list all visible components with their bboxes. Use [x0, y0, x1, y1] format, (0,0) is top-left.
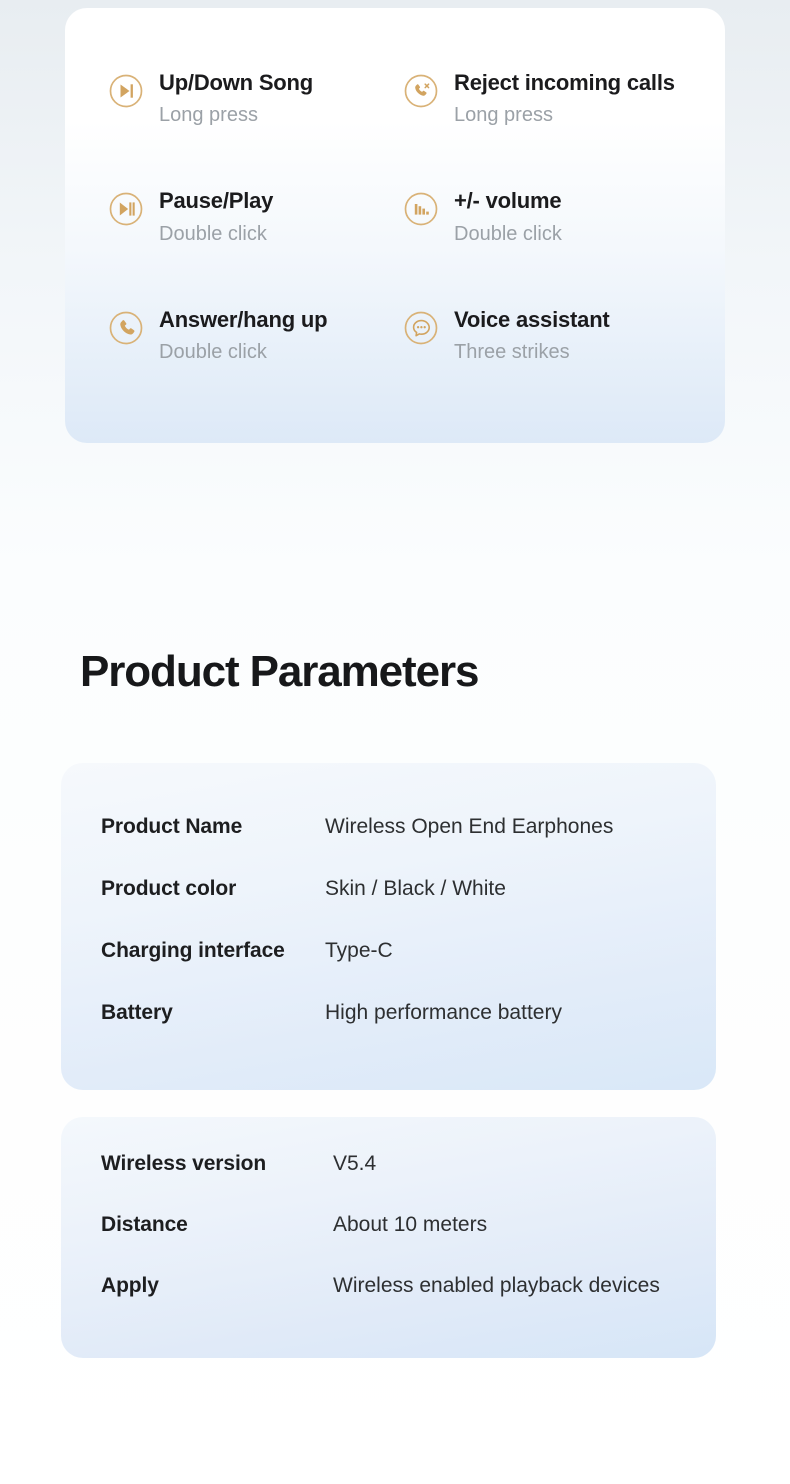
spec-value: V5.4 [333, 1152, 376, 1176]
feature-gesture: Double click [159, 341, 327, 364]
product-parameters-card-secondary: Wireless version V5.4 Distance About 10 … [61, 1117, 716, 1358]
phone-icon [108, 310, 144, 346]
spec-value: Wireless Open End Earphones [325, 815, 613, 839]
table-row: Battery High performance battery [101, 1001, 716, 1025]
feature-item-pause-play: Pause/Play Double click [65, 188, 361, 245]
feature-item-answer-hang-up: Answer/hang up Double click [65, 307, 361, 364]
feature-item-volume: +/- volume Double click [361, 188, 725, 245]
table-row: Distance About 10 meters [101, 1213, 716, 1237]
spec-label: Distance [101, 1213, 333, 1237]
product-parameters-card-primary: Product Name Wireless Open End Earphones… [61, 763, 716, 1090]
spec-value: About 10 meters [333, 1213, 487, 1237]
feature-item-voice-assistant: Voice assistant Three strikes [361, 307, 725, 364]
feature-text: Answer/hang up Double click [159, 307, 327, 364]
feature-title: Voice assistant [454, 307, 610, 332]
spec-label: Battery [101, 1001, 325, 1025]
spec-label: Charging interface [101, 939, 325, 963]
feature-item-up-down-song: Up/Down Song Long press [65, 70, 361, 127]
spec-value: High performance battery [325, 1001, 562, 1025]
feature-gesture: Double click [159, 223, 273, 246]
table-row: Product color Skin / Black / White [101, 877, 716, 901]
feature-title: Up/Down Song [159, 70, 313, 95]
spec-value: Wireless enabled playback devices [333, 1274, 660, 1298]
feature-gesture: Long press [159, 104, 313, 127]
control-gestures-card: Up/Down Song Long press Reject incoming … [65, 8, 725, 443]
reject-call-icon [403, 73, 439, 109]
feature-title: Pause/Play [159, 188, 273, 213]
table-row: Product Name Wireless Open End Earphones [101, 815, 716, 839]
feature-gesture: Long press [454, 104, 675, 127]
table-row: Apply Wireless enabled playback devices [101, 1274, 716, 1298]
spec-label: Product Name [101, 815, 325, 839]
page-title: Product Parameters [80, 650, 478, 694]
feature-text: Reject incoming calls Long press [454, 70, 675, 127]
spec-label: Apply [101, 1274, 333, 1298]
feature-text: +/- volume Double click [454, 188, 562, 245]
control-gestures-grid: Up/Down Song Long press Reject incoming … [65, 70, 725, 364]
feature-title: Answer/hang up [159, 307, 327, 332]
feature-text: Voice assistant Three strikes [454, 307, 610, 364]
next-track-icon [108, 73, 144, 109]
feature-text: Pause/Play Double click [159, 188, 273, 245]
spec-value: Type-C [325, 939, 393, 963]
voice-assistant-icon [403, 310, 439, 346]
feature-title: +/- volume [454, 188, 562, 213]
volume-bars-icon [403, 191, 439, 227]
table-row: Charging interface Type-C [101, 939, 716, 963]
spec-value: Skin / Black / White [325, 877, 506, 901]
feature-item-reject-incoming-calls: Reject incoming calls Long press [361, 70, 725, 127]
spec-label: Product color [101, 877, 325, 901]
feature-text: Up/Down Song Long press [159, 70, 313, 127]
feature-gesture: Double click [454, 223, 562, 246]
table-row: Wireless version V5.4 [101, 1152, 716, 1176]
play-pause-icon [108, 191, 144, 227]
feature-title: Reject incoming calls [454, 70, 675, 95]
feature-gesture: Three strikes [454, 341, 610, 364]
spec-label: Wireless version [101, 1152, 333, 1176]
